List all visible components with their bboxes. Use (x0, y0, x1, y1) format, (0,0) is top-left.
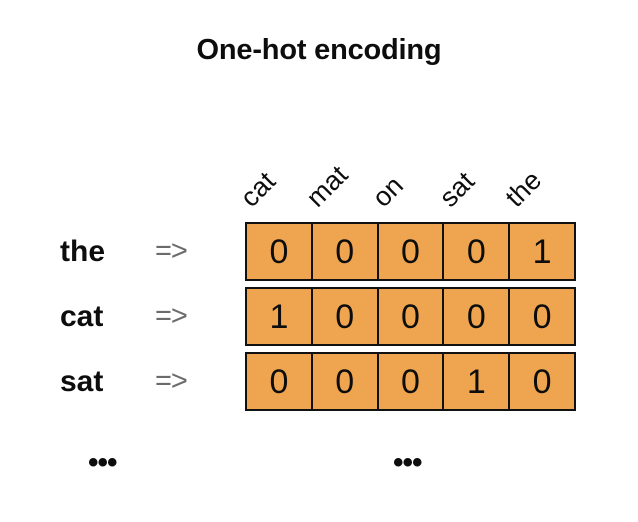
matrix-cell: 0 (510, 354, 574, 409)
matrix-cell: 0 (379, 354, 445, 409)
table-row: 10000 (245, 287, 576, 346)
row-label-group: the=>cat=>sat=> (60, 222, 235, 417)
table-row: 00010 (245, 352, 576, 411)
matrix-cell: 0 (444, 289, 510, 344)
matrix-cell: 1 (247, 289, 313, 344)
ellipsis-matrix: ••• (393, 448, 422, 478)
one-hot-encoding-diagram: One-hot encoding catmatonsatthe the=>cat… (0, 0, 638, 522)
maps-to-arrow-icon: => (155, 365, 187, 398)
page-title: One-hot encoding (0, 34, 638, 67)
encoding-matrix: 000011000000010 (245, 222, 576, 411)
column-header-on: on (368, 172, 408, 212)
column-header-group: catmatonsatthe (245, 132, 576, 212)
maps-to-arrow-icon: => (155, 300, 187, 333)
matrix-cell: 0 (444, 224, 510, 279)
maps-to-arrow-icon: => (155, 235, 187, 268)
matrix-cell: 0 (510, 289, 574, 344)
matrix-cell: 0 (379, 289, 445, 344)
column-header-sat: sat (435, 167, 480, 212)
row-label-sat: sat=> (60, 352, 235, 411)
row-word: cat (60, 300, 155, 334)
row-label-cat: cat=> (60, 287, 235, 346)
ellipsis-rows: ••• (88, 448, 117, 478)
matrix-cell: 0 (247, 354, 313, 409)
matrix-cell: 1 (444, 354, 510, 409)
matrix-cell: 0 (379, 224, 445, 279)
column-header-the: the (501, 166, 547, 212)
matrix-cell: 0 (247, 224, 313, 279)
row-word: the (60, 235, 155, 269)
row-label-the: the=> (60, 222, 235, 281)
matrix-cell: 0 (313, 289, 379, 344)
column-header-cat: cat (236, 167, 281, 212)
matrix-cell: 0 (313, 354, 379, 409)
matrix-cell: 0 (313, 224, 379, 279)
column-header-mat: mat (302, 161, 353, 212)
matrix-cell: 1 (510, 224, 574, 279)
table-row: 00001 (245, 222, 576, 281)
row-word: sat (60, 365, 155, 399)
